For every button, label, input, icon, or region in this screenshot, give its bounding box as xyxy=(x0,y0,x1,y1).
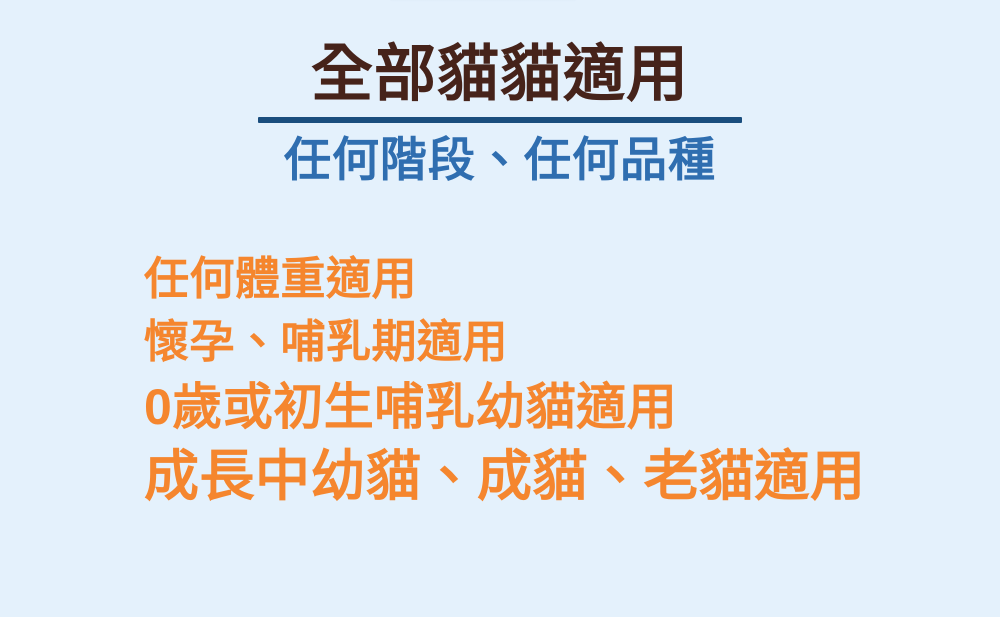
page-subtitle: 任何階段、任何品種 xyxy=(0,136,1000,183)
page-title: 全部貓貓適用 xyxy=(0,44,1000,106)
heading-block: 全部貓貓適用 任何階段、任何品種 xyxy=(0,44,1000,183)
claim-item-newborn-kitten: 0歲或初生哺乳幼貓適用 xyxy=(144,382,866,432)
claim-item-weight: 任何體重適用 xyxy=(144,256,866,301)
claims-list: 任何體重適用 懷孕、哺乳期適用 0歲或初生哺乳幼貓適用 成長中幼貓、成貓、老貓適… xyxy=(144,256,866,504)
claim-item-growing-adult-senior: 成長中幼貓、成貓、老貓適用 xyxy=(144,449,866,504)
title-divider xyxy=(258,117,742,123)
promo-poster: 全部貓貓適用 任何階段、任何品種 任何體重適用 懷孕、哺乳期適用 0歲或初生哺乳… xyxy=(0,0,1000,617)
claim-item-pregnancy-lactation: 懷孕、哺乳期適用 xyxy=(144,319,866,364)
top-cropped-decoration xyxy=(388,0,578,2)
